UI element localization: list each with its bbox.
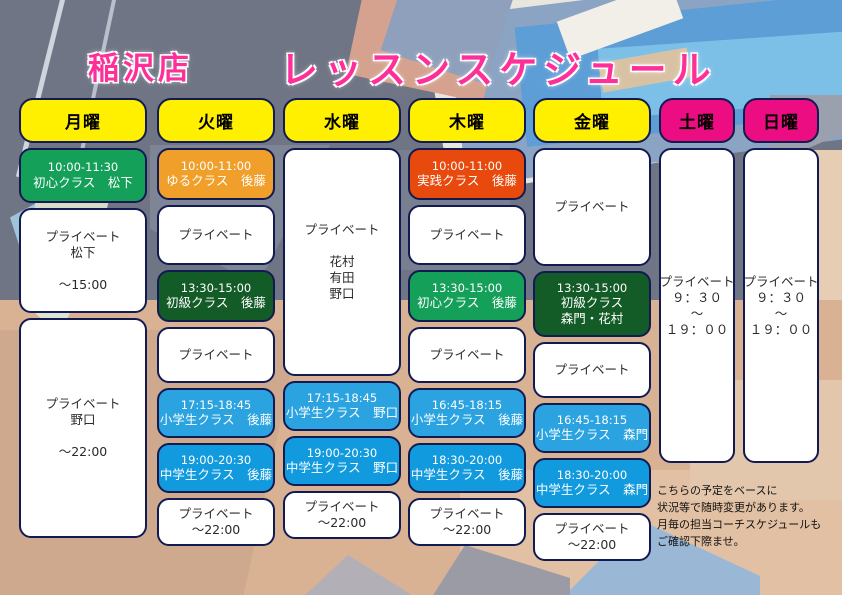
schedule-cell[interactable]: プライベート野口 〜22:00 <box>19 318 147 538</box>
cell-line: 松下 <box>70 245 95 261</box>
note-line: こちらの予定をベースに <box>657 482 842 499</box>
cell-line: 13:30-15:00 <box>432 281 502 296</box>
schedule-column-friday: 金曜プライベート13:30-15:00初級クラス森門・花村プライベート16:45… <box>533 98 651 566</box>
day-header-friday[interactable]: 金曜 <box>533 98 651 143</box>
cell-line: 〜15:00 <box>59 277 108 293</box>
note-line: 状況等で随時変更があります。 <box>657 499 842 516</box>
schedule-cell[interactable]: プライベート〜22:00 <box>533 513 651 561</box>
schedule-cell[interactable]: プライベート９：３０〜１９：００ <box>743 148 819 463</box>
cell-line: 初心クラス 後藤 <box>417 295 517 311</box>
cell-line: 17:15-18:45 <box>307 391 377 406</box>
schedule-cell[interactable]: 19:00-20:30中学生クラス 野口 <box>283 436 401 486</box>
schedule-cell[interactable]: 17:15-18:45小学生クラス 後藤 <box>157 388 275 438</box>
schedule-title: レッスンスケジュール <box>280 39 717 94</box>
cell-line: 〜22:00 <box>192 522 241 538</box>
cell-line: 小学生クラス 後藤 <box>411 412 523 428</box>
page-title: 稲沢店 レッスンスケジュール <box>0 40 842 95</box>
cell-line: ９：３０ <box>672 290 722 306</box>
cell-line: 17:15-18:45 <box>181 398 251 413</box>
cell-line: プライベート <box>45 229 120 245</box>
cell-line: プライベート <box>429 506 504 522</box>
schedule-cell[interactable]: 10:00-11:00ゆるクラス 後藤 <box>157 148 275 200</box>
schedule-cell[interactable]: 18:30-20:00中学生クラス 後藤 <box>408 443 526 493</box>
schedule-cell[interactable]: プライベート 花村有田野口 <box>283 148 401 376</box>
cell-line: プライベート <box>429 347 504 363</box>
cell-line: プライベート <box>178 506 253 522</box>
schedule-column-saturday: 土曜プライベート９：３０〜１９：００ <box>659 98 735 468</box>
cell-line: 〜22:00 <box>318 515 367 531</box>
schedule-cell[interactable]: 17:15-18:45小学生クラス 野口 <box>283 381 401 431</box>
cell-line: プライベート <box>660 274 735 290</box>
cell-line: 中学生クラス 野口 <box>286 460 398 476</box>
cell-line: 花村 <box>329 254 354 270</box>
cell-line: 13:30-15:00 <box>557 281 627 296</box>
schedule-cell[interactable]: 10:00-11:00実践クラス 後藤 <box>408 148 526 200</box>
schedule-cell[interactable]: 16:45-18:15小学生クラス 後藤 <box>408 388 526 438</box>
schedule-cell[interactable]: 10:00-11:30初心クラス 松下 <box>19 148 147 203</box>
schedule-column-tuesday: 火曜10:00-11:00ゆるクラス 後藤プライベート13:30-15:00初級… <box>157 98 275 551</box>
cell-line: 〜 <box>691 306 704 322</box>
schedule-column-sunday: 日曜プライベート９：３０〜１９：００ <box>743 98 819 468</box>
cell-line: 初級クラス 後藤 <box>166 295 266 311</box>
cell-spacer <box>81 428 85 444</box>
cell-line: 〜22:00 <box>568 537 617 553</box>
cell-line: プライベート <box>554 362 629 378</box>
cell-line: 13:30-15:00 <box>181 281 251 296</box>
cell-line: 10:00-11:00 <box>181 159 251 174</box>
schedule-cell[interactable]: 13:30-15:00初級クラス森門・花村 <box>533 271 651 337</box>
schedule-cell[interactable]: 16:45-18:15小学生クラス 森門 <box>533 403 651 453</box>
cell-line: 小学生クラス 森門 <box>536 427 648 443</box>
schedule-cell[interactable]: プライベート <box>533 148 651 266</box>
cell-line: １９：００ <box>750 322 813 338</box>
cell-line: ９：３０ <box>756 290 806 306</box>
schedule-cell[interactable]: プライベート <box>533 342 651 398</box>
schedule-cell[interactable]: プライベート <box>157 327 275 383</box>
cell-line: 中学生クラス 後藤 <box>411 467 523 483</box>
schedule-column-monday: 月曜10:00-11:30初心クラス 松下プライベート松下 〜15:00プライベ… <box>19 98 147 543</box>
schedule-cell[interactable]: プライベート〜22:00 <box>408 498 526 546</box>
schedule-cell[interactable]: 18:30-20:00中学生クラス 森門 <box>533 458 651 508</box>
cell-line: １９：００ <box>666 322 729 338</box>
cell-line: 森門・花村 <box>561 311 624 327</box>
day-header-monday[interactable]: 月曜 <box>19 98 147 143</box>
cell-line: 小学生クラス 野口 <box>286 405 398 421</box>
day-header-saturday[interactable]: 土曜 <box>659 98 735 143</box>
day-header-tuesday[interactable]: 火曜 <box>157 98 275 143</box>
cell-line: ゆるクラス 後藤 <box>166 173 266 189</box>
cell-line: 野口 <box>329 286 354 302</box>
schedule-cell[interactable]: プライベート松下 〜15:00 <box>19 208 147 313</box>
cell-line: 18:30-20:00 <box>557 468 627 483</box>
schedule-cell[interactable]: プライベート〜22:00 <box>283 491 401 539</box>
cell-line: 実践クラス 後藤 <box>417 173 517 189</box>
schedule-cell[interactable]: 19:00-20:30中学生クラス 後藤 <box>157 443 275 493</box>
cell-line: プライベート <box>554 199 629 215</box>
cell-line: 16:45-18:15 <box>432 398 502 413</box>
cell-spacer <box>340 238 344 254</box>
schedule-column-thursday: 木曜10:00-11:00実践クラス 後藤プライベート13:30-15:00初心… <box>408 98 526 551</box>
schedule-column-wednesday: 水曜プライベート 花村有田野口17:15-18:45小学生クラス 野口19:00… <box>283 98 401 544</box>
cell-line: プライベート <box>744 274 819 290</box>
schedule-cell[interactable]: 13:30-15:00初心クラス 後藤 <box>408 270 526 322</box>
cell-line: 〜22:00 <box>59 444 108 460</box>
schedule-cell[interactable]: プライベート <box>408 205 526 265</box>
cell-line: プライベート <box>554 521 629 537</box>
cell-line: プライベート <box>304 222 379 238</box>
cell-line: 19:00-20:30 <box>307 446 377 461</box>
cell-line: 19:00-20:30 <box>181 453 251 468</box>
cell-line: 中学生クラス 森門 <box>536 482 648 498</box>
cell-line: プライベート <box>45 396 120 412</box>
day-header-thursday[interactable]: 木曜 <box>408 98 526 143</box>
cell-line: 中学生クラス 後藤 <box>160 467 272 483</box>
cell-line: プライベート <box>304 499 379 515</box>
cell-line: 有田 <box>329 270 354 286</box>
cell-line: プライベート <box>429 227 504 243</box>
schedule-cell[interactable]: プライベート <box>157 205 275 265</box>
day-header-wednesday[interactable]: 水曜 <box>283 98 401 143</box>
day-header-sunday[interactable]: 日曜 <box>743 98 819 143</box>
cell-line: プライベート <box>178 347 253 363</box>
store-name: 稲沢店 <box>88 43 193 88</box>
cell-line: 〜22:00 <box>443 522 492 538</box>
cell-line: 野口 <box>70 412 95 428</box>
schedule-cell[interactable]: プライベート <box>408 327 526 383</box>
cell-spacer <box>81 261 85 277</box>
cell-line: 16:45-18:15 <box>557 413 627 428</box>
cell-line: 小学生クラス 後藤 <box>160 412 272 428</box>
footer-note: こちらの予定をベースに状況等で随時変更があります。月毎の担当コーチスケジュールも… <box>657 482 842 550</box>
note-line: ご確認下際ませ。 <box>657 533 842 550</box>
cell-line: 初心クラス 松下 <box>33 175 133 191</box>
cell-line: 10:00-11:30 <box>48 160 118 175</box>
note-line: 月毎の担当コーチスケジュールも <box>657 516 842 533</box>
cell-line: 〜 <box>775 306 788 322</box>
cell-line: 10:00-11:00 <box>432 159 502 174</box>
schedule-cell[interactable]: プライベート９：３０〜１９：００ <box>659 148 735 463</box>
cell-line: 初級クラス <box>561 295 623 311</box>
schedule-cell[interactable]: 13:30-15:00初級クラス 後藤 <box>157 270 275 322</box>
cell-line: 18:30-20:00 <box>432 453 502 468</box>
cell-line: プライベート <box>178 227 253 243</box>
schedule-cell[interactable]: プライベート〜22:00 <box>157 498 275 546</box>
